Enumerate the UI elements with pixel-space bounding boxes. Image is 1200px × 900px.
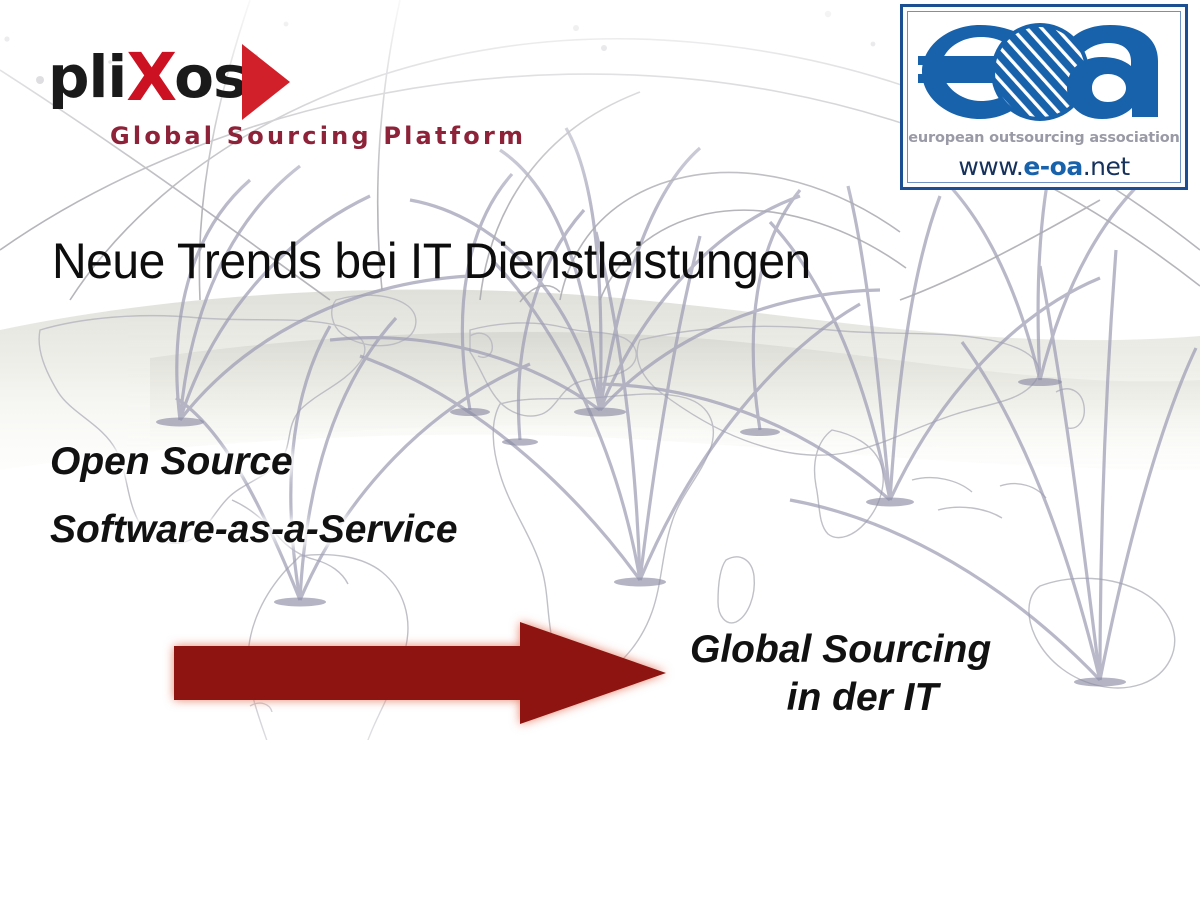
plixos-tagline: Global Sourcing Platform: [110, 122, 526, 150]
eoa-association-line: european outsourcing association: [908, 130, 1180, 146]
plixos-wordmark-accent-x: X: [126, 39, 174, 116]
bullet-open-source: Open Source: [50, 440, 293, 484]
eoa-euro-mark-icon: [910, 16, 1178, 128]
play-triangle-icon: [242, 44, 290, 120]
plixos-wordmark-part1: pli: [48, 43, 126, 111]
eoa-url[interactable]: www.e-oa.net: [908, 152, 1180, 181]
eoa-url-suffix: .net: [1083, 152, 1130, 181]
plixos-logo[interactable]: pliXos Global Sourcing Platform: [48, 42, 468, 162]
eoa-logo-inner-frame: european outsourcing association www.e-o…: [907, 11, 1181, 183]
outcome-text-block: Global Sourcing in der IT: [690, 626, 1035, 721]
eoa-url-brand: e-oa: [1023, 152, 1082, 181]
connection-arcs: [176, 110, 1196, 680]
outcome-line-2: in der IT: [690, 674, 1035, 722]
right-arrow-icon: [160, 620, 680, 726]
page-title: Neue Trends bei IT Dienstleistungen: [52, 232, 811, 290]
presentation-slide: pliXos Global Sourcing Platform: [0, 0, 1200, 900]
outcome-line-1: Global Sourcing: [690, 626, 1035, 674]
eoa-logo[interactable]: european outsourcing association www.e-o…: [900, 4, 1188, 190]
continent-outlines: [39, 295, 1175, 819]
eoa-url-prefix: www.: [958, 152, 1023, 181]
plixos-wordmark-part2: os: [174, 43, 246, 111]
plixos-wordmark: pliXos: [48, 42, 247, 108]
bullet-software-as-a-service: Software-as-a-Service: [50, 508, 458, 552]
